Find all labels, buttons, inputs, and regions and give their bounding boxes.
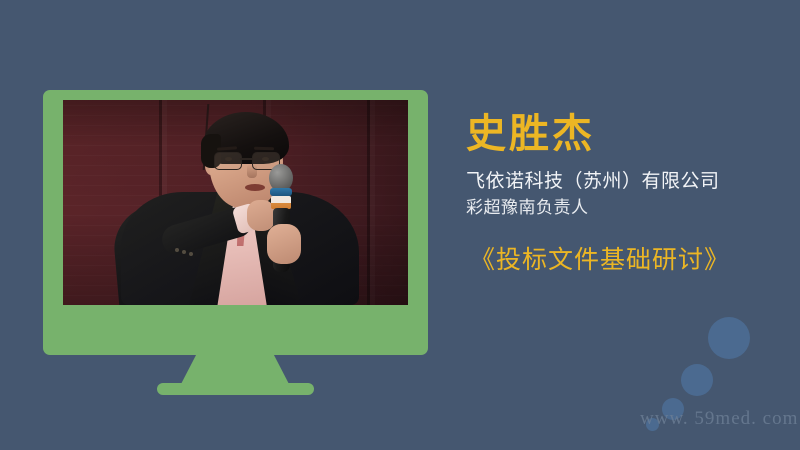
sleeve-button	[189, 252, 193, 256]
speaker-role: 彩超豫南负责人	[466, 197, 786, 219]
glasses-bridge	[240, 158, 252, 160]
mouth	[245, 184, 265, 191]
microphone-band	[270, 188, 292, 196]
speaker-info-block: 史胜杰 飞依诺科技（苏州）有限公司 彩超豫南负责人 《投标文件基础研讨》	[466, 112, 786, 275]
hand-right	[267, 224, 301, 264]
sleeve-button	[182, 250, 186, 254]
monitor-stand-neck	[180, 352, 290, 386]
talk-title: 《投标文件基础研讨》	[470, 245, 786, 275]
speaker-name: 史胜杰	[466, 112, 786, 157]
decorative-circle-medium	[681, 364, 713, 396]
decorative-circle-large	[708, 317, 750, 359]
glasses-lens-left	[214, 152, 242, 170]
eyebrow-right	[254, 147, 274, 151]
company-name: 飞依诺科技（苏州）有限公司	[466, 169, 786, 194]
presentation-slide: 史胜杰 飞依诺科技（苏州）有限公司 彩超豫南负责人 《投标文件基础研讨》 www…	[0, 0, 800, 450]
speaker-figure	[115, 106, 365, 305]
monitor-stand-base	[157, 383, 314, 395]
speaker-photo	[63, 100, 408, 305]
watermark: www. 59med. com	[640, 408, 798, 430]
sleeve-button	[175, 248, 179, 252]
computer-monitor-graphic	[43, 90, 428, 395]
monitor-frame	[43, 90, 428, 355]
